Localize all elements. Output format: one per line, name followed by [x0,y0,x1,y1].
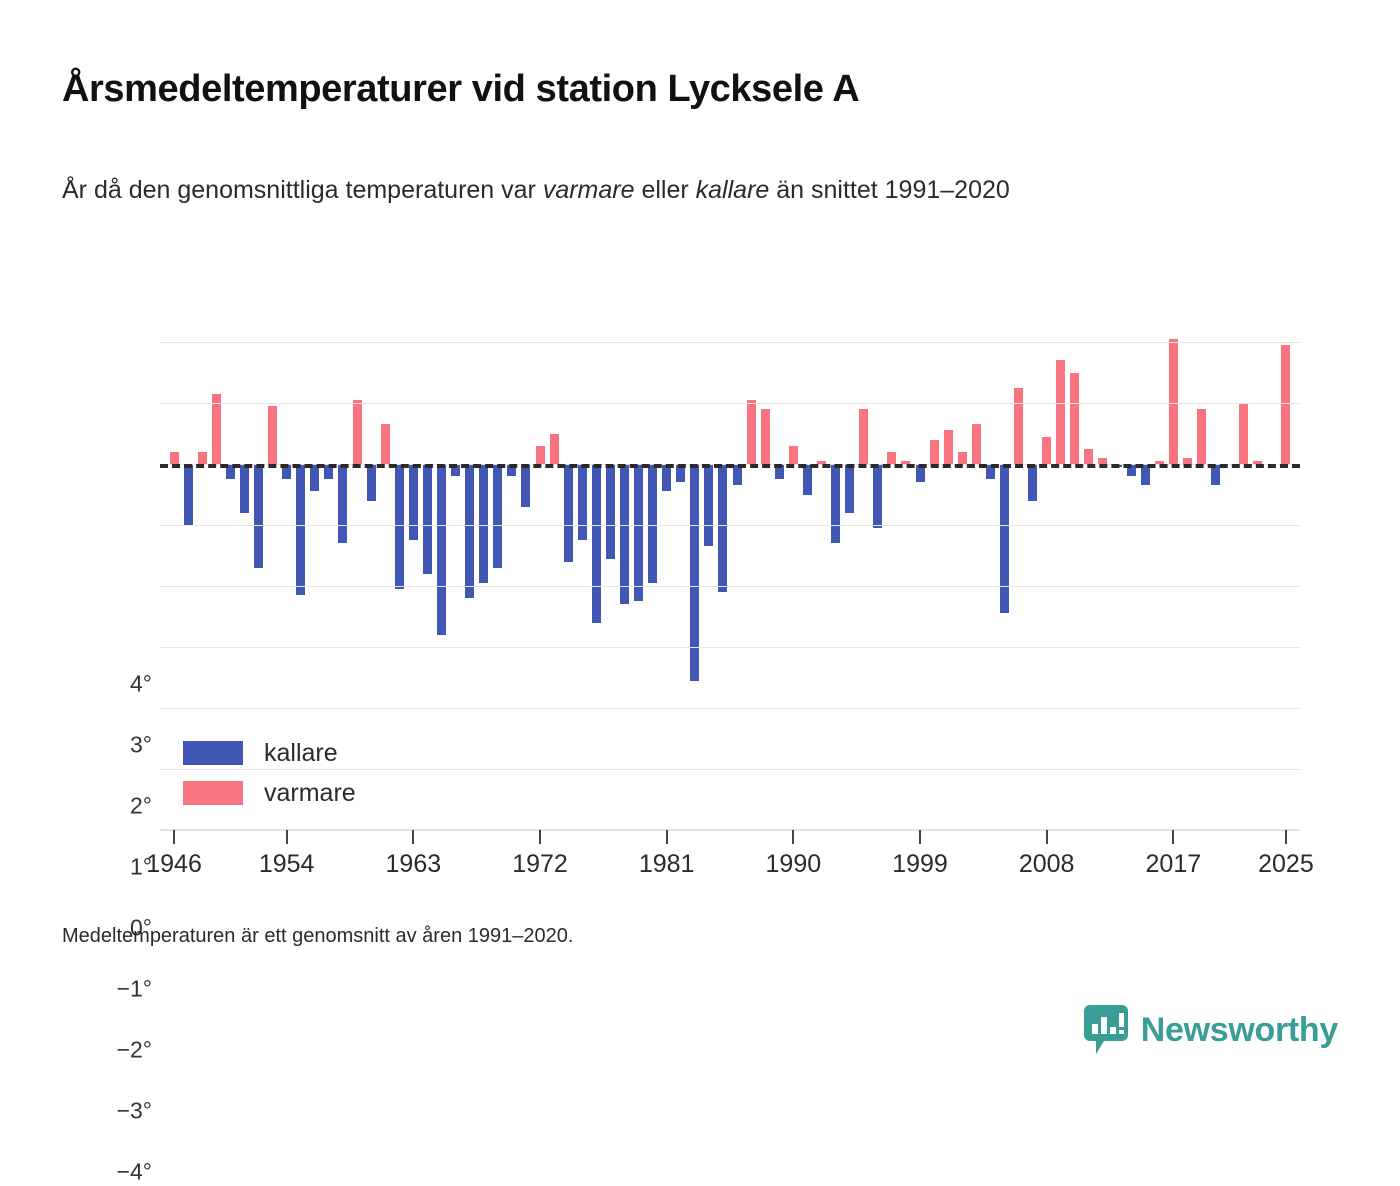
bar[interactable] [704,464,713,546]
bar[interactable] [592,464,601,623]
bar[interactable] [887,452,896,464]
x-axis-tick [539,830,541,844]
legend-swatch-varmare [183,781,243,805]
y-axis-tick-label: 2° [32,793,152,820]
bar[interactable] [1056,360,1065,464]
bar[interactable] [564,464,573,562]
bar[interactable] [268,406,277,464]
bar[interactable] [550,434,559,465]
gridline [160,342,1300,343]
gridline [160,647,1300,648]
bar[interactable] [1169,339,1178,464]
bar[interactable] [578,464,587,540]
x-axis: 1946195419631972198119901999200820172025 [160,830,1300,890]
bar[interactable] [353,400,362,464]
x-axis-tick [1046,830,1048,844]
bar[interactable] [536,446,545,464]
bar[interactable] [198,452,207,464]
x-axis-tick [792,830,794,844]
x-axis-tick [286,830,288,844]
bar[interactable] [465,464,474,598]
bar[interactable] [479,464,488,583]
subtitle-text-3: än snittet 1991–2020 [769,176,1009,204]
y-axis-tick-label: −3° [32,1098,152,1125]
chart-legend: kallare varmare [183,733,356,813]
subtitle-emphasis-warmer: varmare [543,176,635,204]
bar[interactable] [859,409,868,464]
bar[interactable] [648,464,657,583]
x-axis-tick-label: 2025 [1258,850,1314,879]
page-subtitle: År då den genomsnittliga temperaturen va… [62,173,1262,209]
bar[interactable] [873,464,882,528]
bar[interactable] [634,464,643,601]
bar[interactable] [1042,437,1051,464]
bar[interactable] [690,464,699,681]
legend-label-varmare: varmare [264,779,356,808]
y-axis-tick-label: −2° [32,1037,152,1064]
y-axis-tick-label: −1° [32,976,152,1003]
bar[interactable] [944,430,953,464]
legend-swatch-kallare [183,741,243,765]
legend-item-varmare: varmare [183,773,356,813]
x-axis-tick-label: 1954 [259,850,315,879]
bar[interactable] [789,446,798,464]
gridline [160,708,1300,709]
bar[interactable] [521,464,530,507]
bar[interactable] [718,464,727,592]
chart-page: Årsmedeltemperaturer vid station Lycksel… [0,0,1400,1116]
y-axis-tick-label: 4° [32,671,152,698]
x-axis-tick-label: 1999 [892,850,948,879]
bar[interactable] [1000,464,1009,613]
subtitle-emphasis-colder: kallare [696,176,770,204]
x-axis-tick-label: 1972 [512,850,568,879]
bar[interactable] [1239,403,1248,464]
x-axis-tick-label: 1946 [146,850,202,879]
gridline [160,586,1300,587]
bar[interactable] [831,464,840,543]
y-axis-tick-label: 1° [32,854,152,881]
bar[interactable] [184,464,193,525]
bar[interactable] [620,464,629,604]
brand-name: Newsworthy [1141,1011,1338,1050]
bar[interactable] [240,464,249,513]
bar[interactable] [1084,449,1093,464]
bar[interactable] [1028,464,1037,501]
gridline [160,403,1300,404]
subtitle-text-2: eller [635,176,696,204]
y-axis-tick-label: −4° [32,1159,152,1186]
subtitle-text-1: År då den genomsnittliga temperaturen va… [62,176,543,204]
gridline [160,525,1300,526]
x-axis-tick [412,830,414,844]
x-axis-tick [919,830,921,844]
baseline-average-line [160,464,1300,468]
y-axis-tick-label: 3° [32,732,152,759]
bar[interactable] [845,464,854,513]
bar[interactable] [1281,345,1290,464]
bar[interactable] [493,464,502,568]
x-axis-tick-label: 1963 [386,850,442,879]
bar[interactable] [1070,373,1079,465]
bar[interactable] [296,464,305,595]
bar[interactable] [254,464,263,568]
bar[interactable] [423,464,432,574]
bar[interactable] [761,409,770,464]
legend-label-kallare: kallare [264,739,338,768]
x-axis-tick-label: 1990 [766,850,822,879]
bar[interactable] [930,440,939,464]
x-axis-tick [666,830,668,844]
bar[interactable] [958,452,967,464]
bar[interactable] [747,400,756,464]
x-axis-tick-label: 2017 [1146,850,1202,879]
bar[interactable] [409,464,418,540]
legend-item-kallare: kallare [183,733,356,773]
bar[interactable] [338,464,347,543]
bar-chart-speech-bubble-icon [1084,1005,1128,1055]
x-axis-tick [173,830,175,844]
page-title: Årsmedeltemperaturer vid station Lycksel… [62,68,859,111]
brand-logo: Newsworthy [1084,1005,1338,1055]
bar[interactable] [367,464,376,501]
x-axis-tick-label: 2008 [1019,850,1075,879]
bar[interactable] [606,464,615,559]
bar[interactable] [662,464,671,491]
bar[interactable] [212,394,221,464]
bar[interactable] [972,424,981,464]
chart-footnote: Medeltemperaturen är ett genomsnitt av å… [62,925,573,948]
x-axis-tick [1172,830,1174,844]
bar[interactable] [1197,409,1206,464]
bar[interactable] [381,424,390,464]
bar[interactable] [803,464,812,495]
x-axis-tick-label: 1981 [639,850,695,879]
bar[interactable] [1014,388,1023,464]
x-axis-tick [1285,830,1287,844]
bar[interactable] [395,464,404,589]
bar[interactable] [437,464,446,635]
bar[interactable] [170,452,179,464]
bar[interactable] [310,464,319,491]
